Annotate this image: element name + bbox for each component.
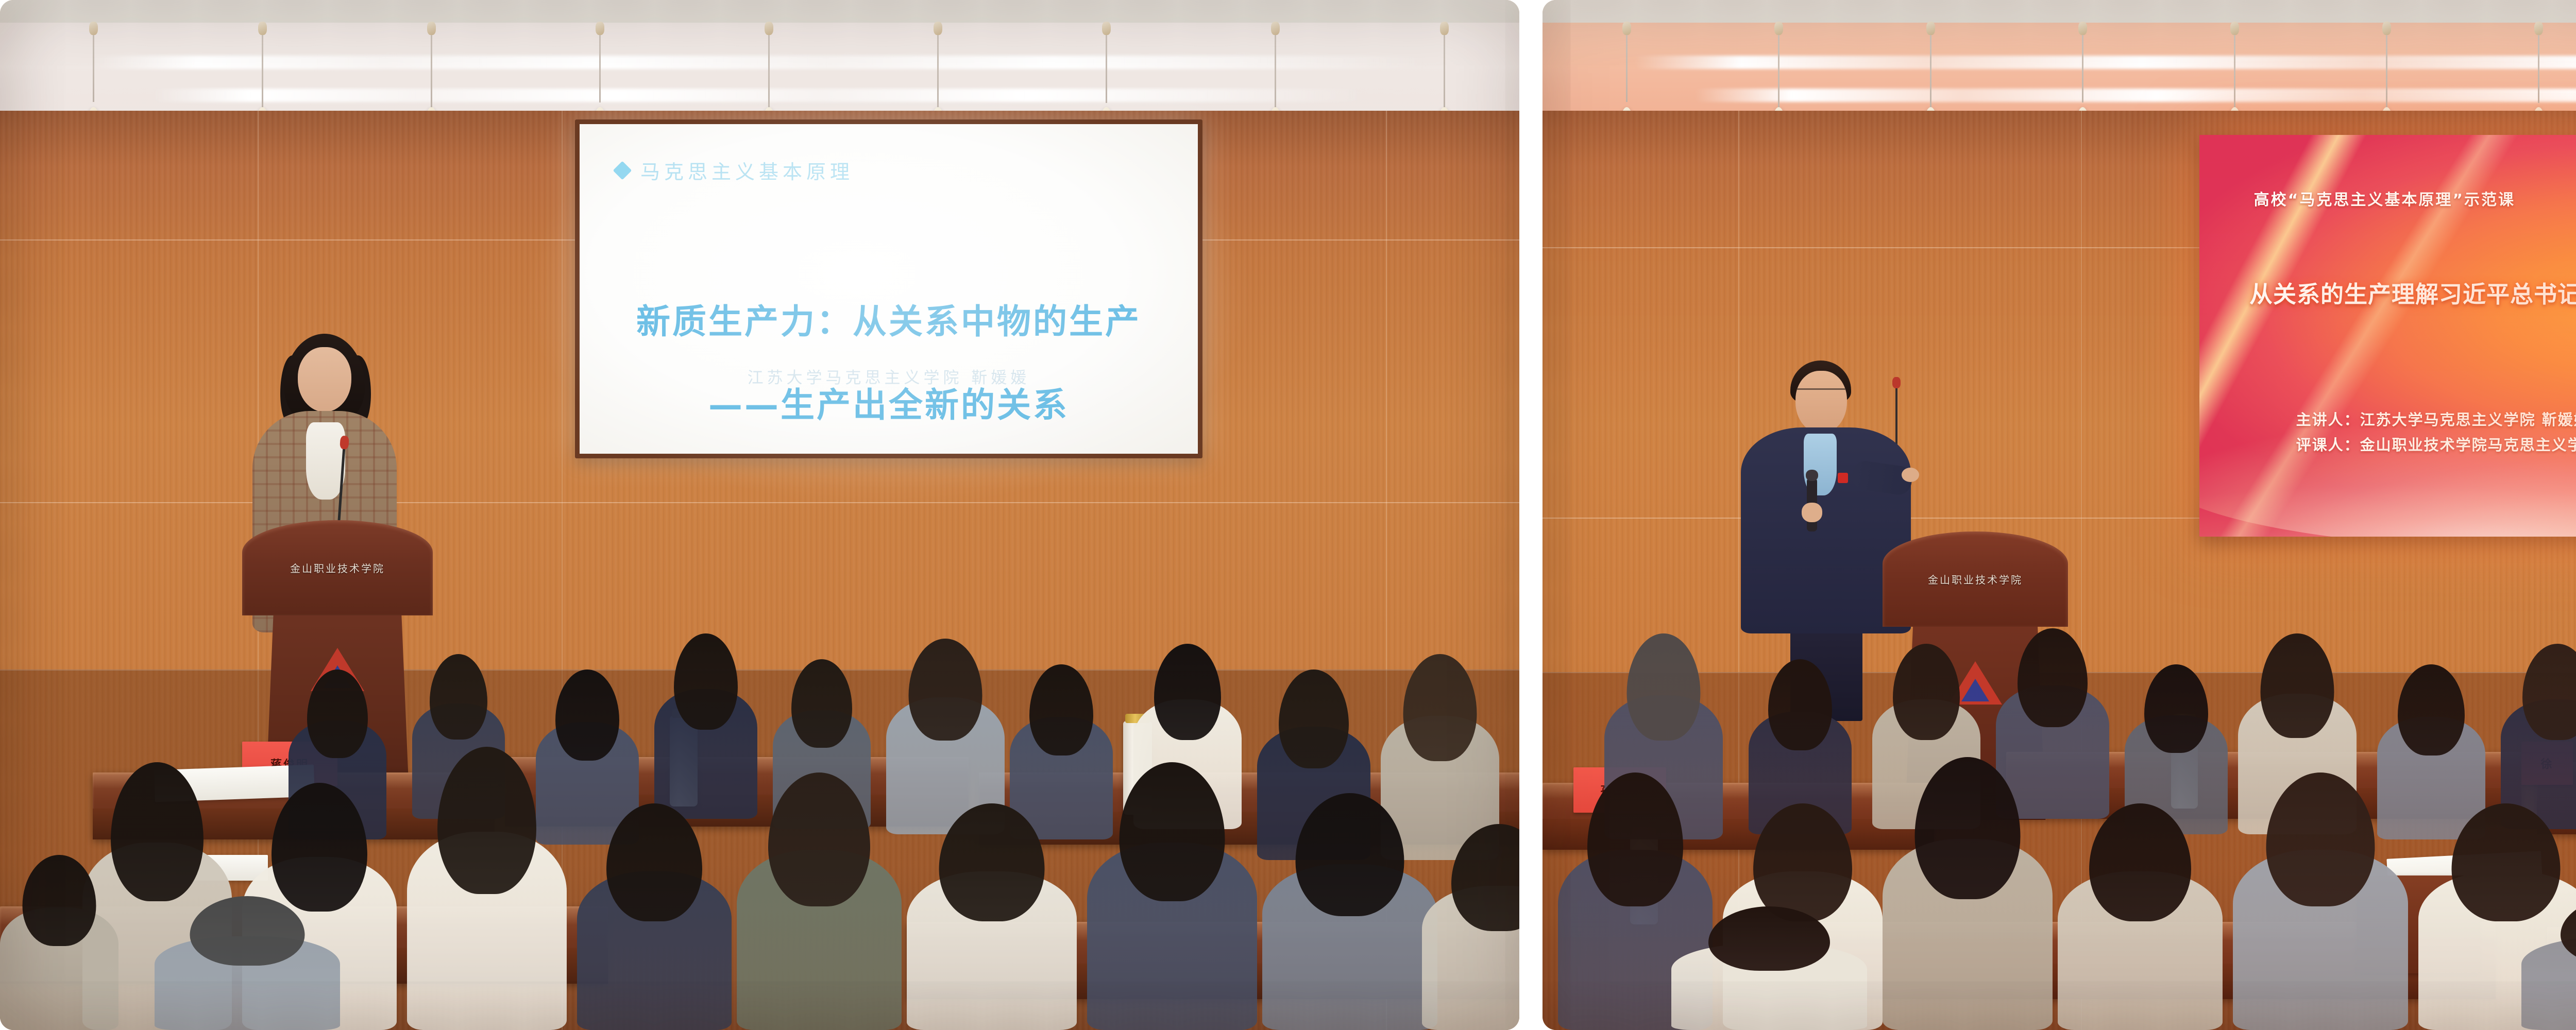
audience-head	[909, 639, 982, 741]
slide-title-line1: 新质生产力：从关系中物的生产	[580, 294, 1198, 344]
pendant-lamp-icon	[1106, 25, 1107, 103]
ceiling-light-strip	[1634, 56, 2576, 69]
audience-head	[1279, 669, 1349, 768]
slide-surface: 马克思主义基本原理 新质生产力：从关系中物的生产 ——生产出全新的关系 （以物为…	[580, 124, 1198, 454]
glasses-icon	[1797, 388, 1846, 397]
slide-footer: 江苏大学马克思主义学院 靳媛媛	[580, 365, 1198, 388]
podium-name-plate: 金山职业技术学院	[1883, 572, 2068, 587]
audience-head	[1627, 633, 1701, 741]
audience-head	[939, 803, 1045, 921]
audience-head	[1915, 757, 2021, 899]
slide-header-label: 马克思主义基本原理	[640, 156, 854, 184]
ceiling-light-strip	[1694, 89, 2576, 102]
led-subtitle: 高校“马克思主义基本原理”示范课	[2254, 187, 2515, 210]
led-reviewer-line: 评课人：金山职业技术学院马克思主义学院院长 孙国荣	[2296, 433, 2576, 455]
audience-head	[791, 659, 852, 748]
audience-head	[2398, 664, 2465, 756]
audience-member	[577, 803, 732, 1030]
led-display-screen: 高校“马克思主义基本原理”示范课 从关系的生产理解习近平总书记关于新质生产力的重…	[2199, 135, 2576, 537]
audience-head	[437, 747, 536, 894]
audience-head	[2144, 664, 2208, 753]
audience-head	[23, 855, 96, 946]
pendant-lamp-icon	[599, 25, 601, 102]
audience-member	[155, 896, 340, 1030]
audience-head	[2018, 628, 2088, 727]
audience-head	[768, 772, 870, 906]
led-presenter-line: 主讲人：江苏大学马克思主义学院 靳媛媛	[2296, 408, 2576, 430]
audience-head	[1451, 824, 1519, 931]
audience-head	[674, 633, 738, 730]
audience-head	[430, 654, 487, 740]
audience-member	[407, 747, 567, 1030]
audience-member	[1262, 793, 1437, 1030]
audience-head	[2089, 803, 2191, 921]
pendant-lamp-icon	[937, 25, 939, 112]
audience-head	[307, 669, 368, 758]
pendant-lamp-icon	[2234, 25, 2235, 122]
photo-collage: 马克思主义基本原理 新质生产力：从关系中物的生产 ——生产出全新的关系 （以物为…	[0, 0, 2576, 1030]
audience-head	[1296, 793, 1404, 916]
audience-member	[1087, 762, 1257, 1030]
audience-member	[1883, 757, 2053, 1030]
slide-header: 马克思主义基本原理	[616, 156, 854, 184]
pendant-lamp-icon	[1626, 25, 1628, 102]
pendant-lamp-icon	[93, 25, 94, 102]
audience-member	[1422, 824, 1519, 1030]
podium-name-plate: 金山职业技术学院	[242, 560, 433, 575]
audience-member	[907, 803, 1077, 1030]
right-photo: 高校“马克思主义基本原理”示范课 从关系的生产理解习近平总书记关于新质生产力的重…	[1543, 0, 2576, 1030]
audience-member	[2521, 896, 2576, 1030]
projection-screen: 马克思主义基本原理 新质生产力：从关系中物的生产 ——生产出全新的关系 （以物为…	[575, 119, 1202, 458]
diamond-bullet-icon	[613, 161, 632, 180]
audience-head	[1154, 644, 1221, 740]
pendant-lamp-icon	[262, 25, 263, 121]
audience-head	[190, 896, 305, 966]
audience-head	[1587, 772, 1683, 906]
pendant-lamp-icon	[2082, 25, 2083, 102]
presenter-face	[1795, 371, 1847, 434]
pendant-lamp-icon	[1778, 25, 1780, 121]
led-title: 从关系的生产理解习近平总书记关于新质生产力的重要论述	[2214, 276, 2576, 309]
audience-head	[2261, 633, 2334, 738]
audience-head	[111, 762, 204, 901]
audience-head	[2522, 644, 2576, 740]
audience-member	[0, 855, 118, 1030]
audience-member	[2501, 644, 2576, 829]
pendant-lamp-icon	[1444, 25, 1445, 113]
audience-head	[1753, 803, 1852, 921]
lapel-pin-icon	[1838, 473, 1848, 483]
audience-member	[1671, 906, 1867, 1030]
pendant-lamp-icon	[2386, 25, 2387, 112]
audience-head	[1708, 906, 1830, 971]
audience-head	[1893, 644, 1960, 740]
audience-head	[1029, 664, 1093, 756]
audience-member	[2233, 772, 2408, 1030]
pendant-lamp-icon	[431, 25, 432, 112]
audience-member	[2058, 803, 2223, 1030]
presenter-face	[298, 347, 351, 412]
audience-head	[606, 803, 702, 921]
audience-head	[1120, 762, 1225, 901]
audience-head	[2266, 772, 2375, 906]
pendant-lamp-icon	[768, 25, 770, 122]
ceiling-light-strip	[152, 89, 1367, 102]
pendant-lamp-icon	[2538, 25, 2539, 103]
pendant-lamp-icon	[1275, 25, 1276, 122]
ceiling-light-strip	[91, 56, 1428, 69]
pendant-lamp-icon	[1930, 25, 1931, 112]
audience-member	[737, 772, 902, 1030]
audience-head	[1403, 654, 1477, 761]
left-photo: 马克思主义基本原理 新质生产力：从关系中物的生产 ——生产出全新的关系 （以物为…	[0, 0, 1519, 1030]
audience-head	[1768, 659, 1832, 750]
audience-head	[272, 783, 367, 912]
